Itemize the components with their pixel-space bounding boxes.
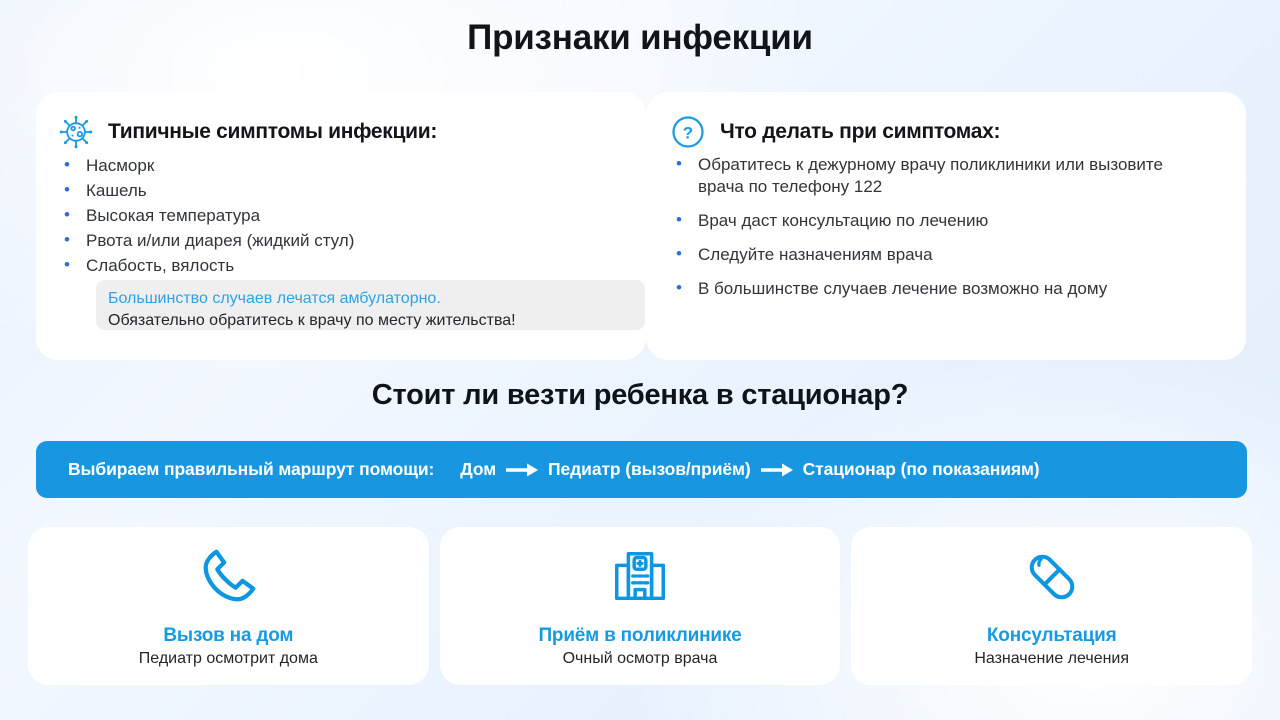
note-body-text: Обязательно обратитесь к врачу по месту …	[108, 310, 633, 332]
clinic-visit-subtitle: Очный осмотр врача	[563, 650, 718, 668]
consultation-card: Консультация Назначение лечения	[851, 527, 1252, 685]
page-title: Признаки инфекции	[0, 18, 1280, 58]
symptoms-card-header: Типичные симптомы инфекции:	[58, 110, 624, 154]
clinic-visit-title: Приём в поликлинике	[538, 625, 741, 647]
list-item: Рвота и/или диарея (жидкий стул)	[58, 229, 624, 253]
arrow-right-icon	[760, 462, 794, 478]
list-item: Обратитесь к дежурному врачу поликлиники…	[670, 154, 1168, 198]
list-item: Кашель	[58, 179, 624, 203]
route-step-home: Дом	[460, 459, 496, 480]
arrow-right-icon	[505, 462, 539, 478]
slide-root: Признаки инфекции	[0, 0, 1280, 720]
list-item: Насморк	[58, 154, 624, 178]
note-highlight-text: Большинство случаев лечатся амбулаторно.	[108, 288, 633, 310]
home-visit-subtitle: Педиатр осмотрит дома	[139, 650, 318, 668]
consultation-title: Консультация	[987, 625, 1117, 647]
list-item: Следуйте назначениям врача	[670, 244, 1168, 266]
symptoms-list: Насморк Кашель Высокая температура Рвота…	[58, 154, 624, 278]
route-banner-label: Выбираем правильный маршрут помощи:	[68, 459, 434, 480]
actions-card-header: ? Что делать при симптомах:	[670, 110, 1222, 154]
actions-card: ? Что делать при симптомах: Обратитесь к…	[646, 92, 1246, 360]
ambulatory-note-box: Большинство случаев лечатся амбулаторно.…	[96, 280, 645, 330]
consultation-subtitle: Назначение лечения	[974, 650, 1129, 668]
route-banner: Выбираем правильный маршрут помощи: Дом …	[36, 441, 1247, 498]
route-step-hospital: Стационар (по показаниям)	[803, 459, 1040, 480]
route-step-pediatrician: Педиатр (вызов/приём)	[548, 459, 751, 480]
symptoms-card: Типичные симптомы инфекции: Насморк Каше…	[36, 92, 646, 360]
phone-icon	[197, 543, 259, 611]
clinic-visit-card: Приём в поликлинике Очный осмотр врача	[440, 527, 841, 685]
list-item: Высокая температура	[58, 204, 624, 228]
hospital-icon	[609, 543, 671, 611]
svg-text:?: ?	[683, 123, 693, 142]
list-item: Врач даст консультацию по лечению	[670, 210, 1168, 232]
top-cards-row: Типичные симптомы инфекции: Насморк Каше…	[36, 92, 1246, 360]
list-item: В большинстве случаев лечение возможно н…	[670, 278, 1168, 300]
home-visit-title: Вызов на дом	[163, 625, 293, 647]
home-visit-card: Вызов на дом Педиатр осмотрит дома	[28, 527, 429, 685]
virus-icon	[58, 114, 94, 150]
list-item: Слабость, вялость	[58, 254, 624, 278]
actions-card-title: Что делать при симптомах:	[720, 120, 1000, 144]
actions-list: Обратитесь к дежурному врачу поликлиники…	[670, 154, 1222, 300]
symptoms-card-title: Типичные симптомы инфекции:	[108, 120, 437, 144]
pill-icon	[1021, 543, 1083, 611]
bottom-cards-row: Вызов на дом Педиатр осмотрит дома	[28, 527, 1252, 685]
section-title: Стоит ли везти ребенка в стационар?	[0, 379, 1280, 412]
question-circle-icon: ?	[670, 114, 706, 150]
